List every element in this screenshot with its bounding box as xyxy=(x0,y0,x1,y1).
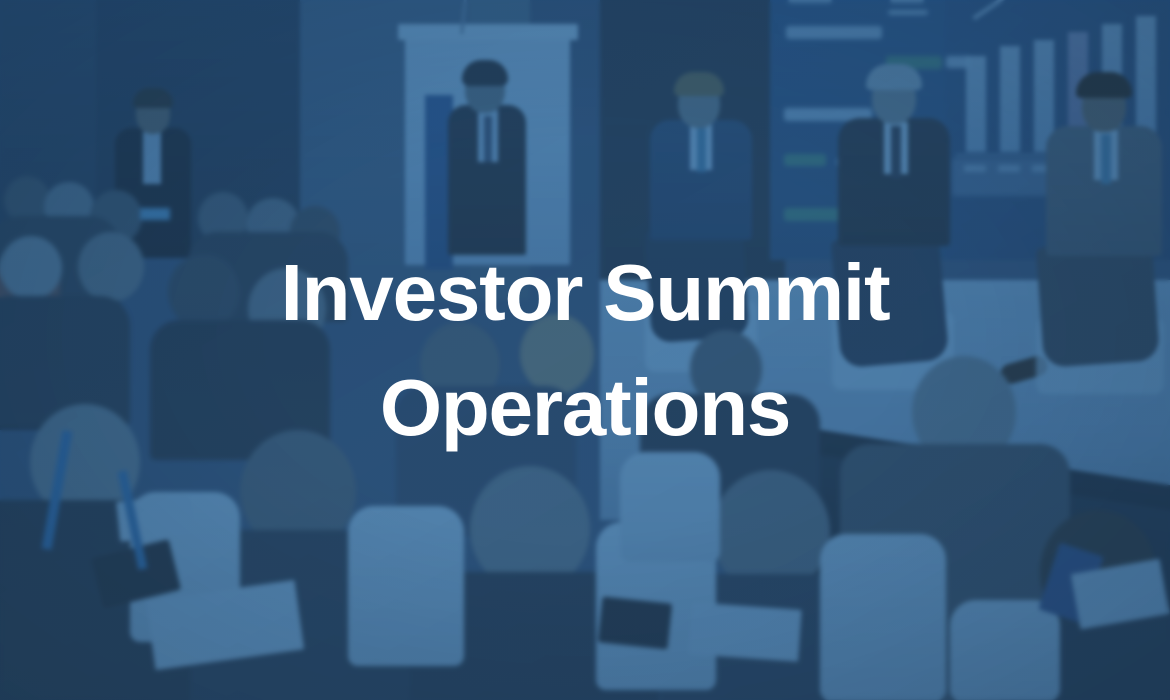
podium-top xyxy=(398,24,578,40)
slide-text-line xyxy=(784,154,826,166)
audience-head xyxy=(520,314,594,394)
note-paper xyxy=(688,602,801,662)
audience-head xyxy=(78,232,144,302)
background-photo xyxy=(0,0,1170,700)
slide-text-line xyxy=(788,0,832,3)
hero-banner: Investor Summit Operations xyxy=(0,0,1170,700)
audience-chair xyxy=(348,506,464,666)
slide-text-line xyxy=(890,0,924,3)
audience-body xyxy=(0,296,130,426)
chart-bar xyxy=(966,56,986,152)
chart-bar xyxy=(1000,46,1020,152)
lanyard xyxy=(140,208,170,220)
trend-arrow-icon xyxy=(973,0,1030,20)
slide-text-line xyxy=(786,26,882,39)
audience-head xyxy=(0,236,62,300)
tablet-device xyxy=(598,596,672,649)
audience-chair xyxy=(820,534,946,700)
audience-chair xyxy=(950,600,1060,700)
audience-head xyxy=(168,254,240,330)
slide-text-line xyxy=(888,10,928,15)
audience-chair xyxy=(620,452,720,562)
